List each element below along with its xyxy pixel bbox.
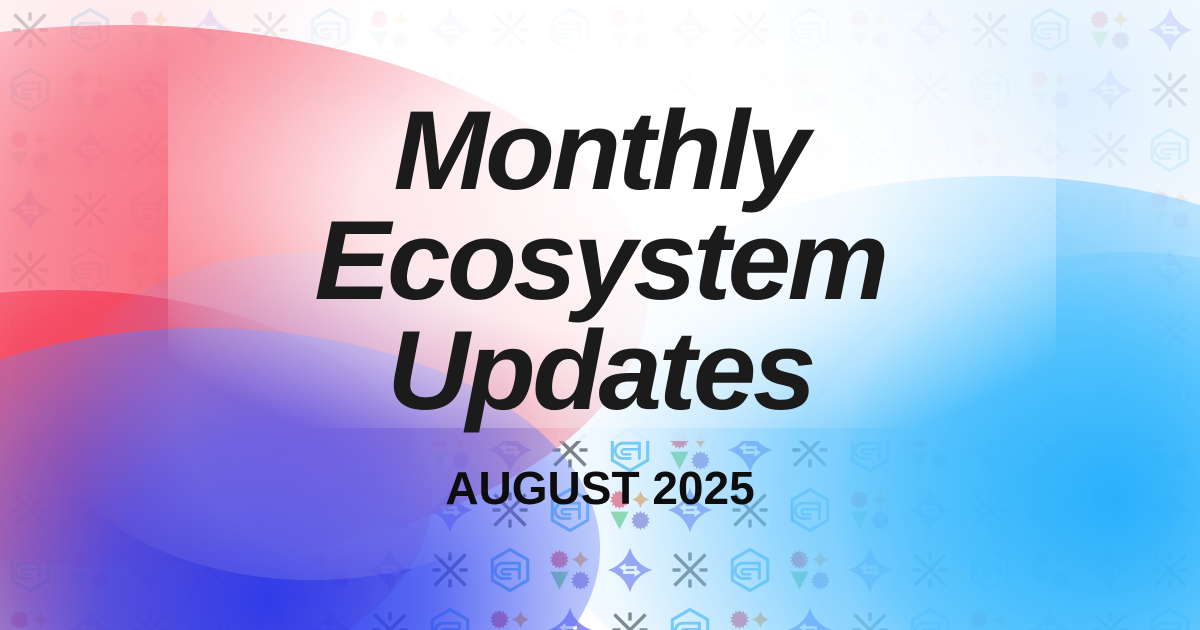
headline-line-1: Monthly — [314, 96, 885, 206]
monthly-ecosystem-updates-banner: Monthly Ecosystem Updates AUGUST 2025 — [0, 0, 1200, 630]
banner-content: Monthly Ecosystem Updates AUGUST 2025 — [0, 0, 1200, 630]
page-title: Monthly Ecosystem Updates — [314, 96, 885, 425]
banner-subtitle: AUGUST 2025 — [445, 461, 754, 515]
headline-line-3: Updates — [314, 316, 885, 426]
headline-line-2: Ecosystem — [314, 206, 885, 316]
